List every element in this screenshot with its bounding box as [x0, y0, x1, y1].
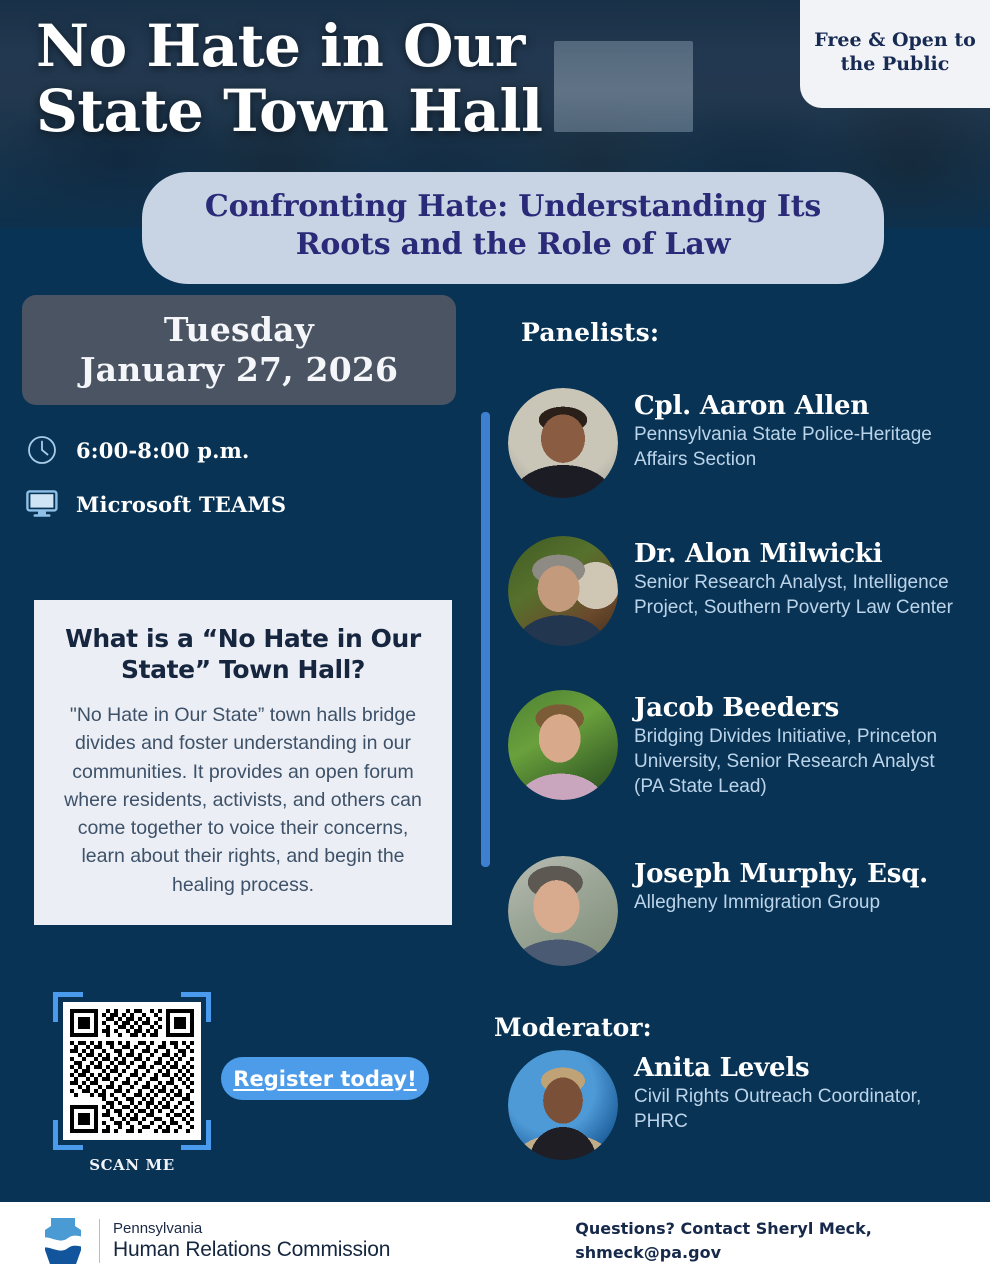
moderator-text: Anita Levels Civil Rights Outreach Coord…	[634, 1050, 954, 1135]
event-time-label: 6:00-8:00 p.m.	[76, 438, 250, 463]
info-card: What is a “No Hate in Our State” Town Ha…	[34, 600, 452, 925]
panelist-text: Jacob Beeders Bridging Divides Initiativ…	[634, 690, 954, 800]
qr-frame	[53, 992, 211, 1150]
moderator-role: Civil Rights Outreach Coordinator, PHRC	[634, 1085, 954, 1135]
contact-email[interactable]: shmeck@pa.gov	[575, 1241, 872, 1265]
subtitle-text: Confronting Hate: Understanding Its Root…	[205, 189, 821, 262]
clock-icon	[24, 432, 60, 468]
avatar	[508, 536, 618, 646]
phrc-logo: Pennsylvania Human Relations Commission	[40, 1216, 390, 1266]
moderator-item: Anita Levels Civil Rights Outreach Coord…	[508, 1050, 954, 1160]
panelists-accent-line	[481, 412, 490, 867]
panelist-item: Jacob Beeders Bridging Divides Initiativ…	[508, 690, 954, 800]
moderator-name: Anita Levels	[634, 1054, 954, 1083]
info-card-heading: What is a “No Hate in Our State” Town Ha…	[60, 624, 426, 685]
logo-org-line2: Human Relations Commission	[113, 1238, 390, 1262]
panelist-item: Dr. Alon Milwicki Senior Research Analys…	[508, 536, 954, 646]
event-date-box: Tuesday January 27, 2026	[22, 295, 456, 405]
panelist-role: Pennsylvania State Police-Heritage Affai…	[634, 423, 954, 473]
free-open-badge-label: Free & Open to the Public	[810, 28, 980, 77]
free-open-badge: Free & Open to the Public	[800, 0, 990, 108]
subtitle-banner: Confronting Hate: Understanding Its Root…	[142, 172, 884, 284]
panelist-name: Joseph Murphy, Esq.	[634, 860, 928, 889]
event-date: January 27, 2026	[80, 351, 398, 390]
contact-line1: Questions? Contact Sheryl Meck,	[575, 1217, 872, 1241]
logo-divider	[99, 1219, 100, 1263]
qr-code-image[interactable]	[63, 1002, 201, 1140]
event-platform-label: Microsoft TEAMS	[76, 492, 286, 517]
info-card-body: "No Hate in Our State” town halls bridge…	[60, 701, 426, 899]
panelist-item: Joseph Murphy, Esq. Allegheny Immigratio…	[508, 856, 928, 966]
panelist-item: Cpl. Aaron Allen Pennsylvania State Poli…	[508, 388, 954, 498]
keystone-icon	[40, 1216, 86, 1266]
avatar	[508, 856, 618, 966]
avatar	[508, 388, 618, 498]
logo-org-line1: Pennsylvania	[113, 1220, 390, 1237]
event-day: Tuesday	[164, 311, 314, 350]
register-button-label: Register today!	[233, 1067, 416, 1091]
scan-me-label: SCAN ME	[53, 1156, 211, 1174]
footer-bar: Pennsylvania Human Relations Commission …	[0, 1202, 990, 1280]
panelist-role: Allegheny Immigration Group	[634, 891, 928, 916]
event-platform-row: Microsoft TEAMS	[24, 486, 286, 522]
moderator-heading: Moderator:	[494, 1013, 652, 1042]
register-button[interactable]: Register today!	[221, 1057, 429, 1100]
panelist-role: Senior Research Analyst, Intelligence Pr…	[634, 571, 954, 621]
contact-info: Questions? Contact Sheryl Meck, shmeck@p…	[575, 1217, 872, 1265]
avatar	[508, 690, 618, 800]
page-title: No Hate in Our State Town Hall	[36, 14, 656, 144]
monitor-icon	[24, 486, 60, 522]
panelist-name: Dr. Alon Milwicki	[634, 540, 954, 569]
panelist-text: Joseph Murphy, Esq. Allegheny Immigratio…	[634, 856, 928, 916]
panelist-text: Dr. Alon Milwicki Senior Research Analys…	[634, 536, 954, 621]
event-time-row: 6:00-8:00 p.m.	[24, 432, 250, 468]
panelists-heading: Panelists:	[521, 318, 659, 347]
qr-block: SCAN ME	[53, 992, 213, 1174]
panelist-text: Cpl. Aaron Allen Pennsylvania State Poli…	[634, 388, 954, 473]
panelist-name: Jacob Beeders	[634, 694, 954, 723]
poster-root: No Hate in Our State Town Hall Free & Op…	[0, 0, 990, 1280]
page-title-line1: No Hate in Our	[36, 14, 656, 79]
logo-text: Pennsylvania Human Relations Commission	[113, 1220, 390, 1261]
page-title-line2: State Town Hall	[36, 79, 656, 144]
panelist-role: Bridging Divides Initiative, Princeton U…	[634, 725, 954, 800]
panelist-name: Cpl. Aaron Allen	[634, 392, 954, 421]
avatar	[508, 1050, 618, 1160]
